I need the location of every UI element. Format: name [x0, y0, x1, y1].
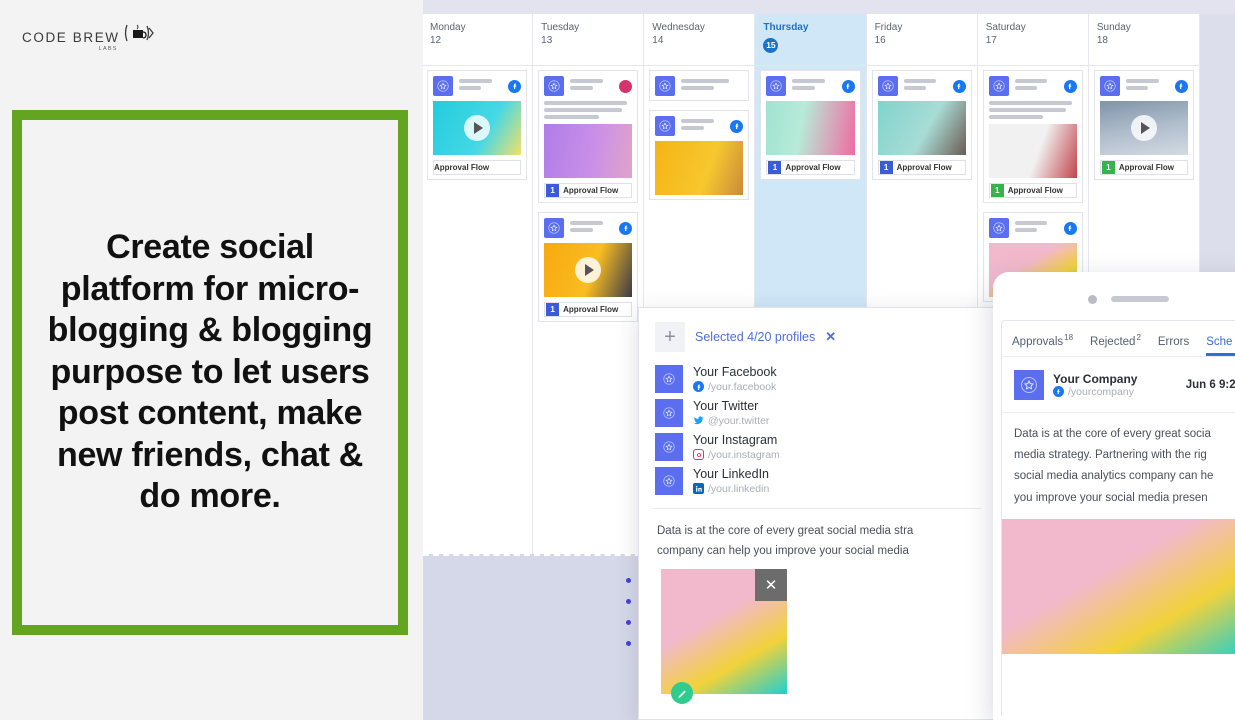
facebook-icon [508, 80, 521, 93]
remove-media-icon[interactable]: ✕ [755, 569, 787, 601]
calendar-post-card[interactable]: 1 Approval Flow [760, 70, 860, 180]
tab-label: Approvals [1012, 336, 1063, 348]
post-card-header [544, 218, 632, 238]
profile-list-item[interactable]: Your Facebook /your.facebook [639, 362, 995, 396]
post-card-header [878, 76, 966, 96]
speaker-bar [1111, 296, 1169, 302]
day-name: Friday [875, 20, 969, 35]
day-number: 16 [875, 35, 969, 46]
approval-flow-bar[interactable]: 1 Approval Flow [544, 302, 632, 317]
composer-textarea[interactable]: Data is at the core of every great socia… [639, 509, 995, 561]
day-name: Saturday [986, 20, 1080, 35]
calendar-day-column[interactable]: Tuesday13 1 Approval Flow 1 Approval Flo… [533, 14, 644, 564]
overlay-dot [626, 578, 631, 583]
approval-flow-bar[interactable]: 1 Approval Flow [544, 183, 632, 198]
tab-count: 18 [1064, 333, 1073, 342]
phone-tab-sche[interactable]: Sche [1206, 336, 1232, 356]
avatar [544, 218, 564, 238]
approval-flow-label: Approval Flow [897, 163, 952, 172]
post-title-placeholder [1015, 79, 1058, 93]
brand-logo: CODE BREW LABS [22, 22, 154, 44]
profile-handle: @your.twitter [708, 415, 769, 427]
facebook-icon [1053, 386, 1064, 397]
post-card-header [655, 116, 743, 136]
calendar-day-body[interactable]: 1 Approval Flow [867, 66, 977, 193]
brand-name-text: CODE BREW [22, 30, 120, 45]
approval-count-badge: 1 [880, 161, 893, 174]
plus-icon: + [664, 327, 676, 347]
pencil-icon[interactable] [671, 682, 693, 704]
camera-icon [1088, 295, 1097, 304]
facebook-icon [1064, 80, 1077, 93]
approval-flow-bar[interactable]: 1 Approval Flow [878, 160, 966, 175]
day-number: 12 [430, 35, 524, 46]
post-image [878, 101, 966, 155]
profile-handle-row: /your.instagram [693, 449, 780, 461]
post-card-header [655, 76, 743, 96]
calendar-day-body[interactable]: Approval Flow [423, 66, 532, 193]
avatar [655, 467, 683, 495]
post-title-placeholder [792, 79, 835, 93]
approval-count-badge: 1 [991, 184, 1004, 197]
calendar-day-body[interactable]: 1 Approval Flow [1089, 66, 1199, 193]
day-number: 18 [1097, 35, 1191, 46]
approval-flow-label: Approval Flow [434, 163, 489, 172]
left-panel: CODE BREW LABS Create social platform fo… [0, 0, 423, 720]
calendar-day-header: Monday12 [423, 14, 532, 66]
post-image [433, 101, 521, 155]
post-text-placeholder [989, 101, 1077, 119]
instagram-icon [693, 449, 704, 460]
post-composer-panel[interactable]: + Selected 4/20 profiles ✕ Your Facebook… [638, 307, 996, 720]
approval-flow-label: Approval Flow [563, 305, 618, 314]
post-title-placeholder [681, 79, 743, 93]
post-title-placeholder [681, 119, 724, 133]
approval-flow-bar[interactable]: 1 Approval Flow [766, 160, 854, 175]
overlay-dot-list [626, 578, 631, 662]
calendar-day-header: Tuesday13 [533, 14, 643, 66]
phone-post-header: Your Company /yourcompany Jun 6 9:25 [1002, 357, 1235, 413]
avatar [766, 76, 786, 96]
post-author: Your Company [1053, 372, 1137, 386]
profile-handle-row: /your.linkedin [693, 483, 769, 495]
profile-handle-row: /your.facebook [693, 381, 777, 393]
approval-flow-label: Approval Flow [1008, 186, 1063, 195]
linkedin-icon [693, 483, 704, 494]
phone-text-line: social media analytics company can he [1014, 466, 1235, 487]
facebook-icon [1175, 80, 1188, 93]
calendar-post-card[interactable]: 1 Approval Flow [983, 70, 1083, 203]
avatar [989, 218, 1009, 238]
headline-card: Create social platform for micro-bloggin… [12, 110, 408, 635]
phone-tab-approvals[interactable]: Approvals18 [1012, 333, 1073, 356]
phone-tab-errors[interactable]: Errors [1158, 336, 1189, 356]
phone-post-image [1002, 519, 1235, 654]
tab-label: Rejected [1090, 336, 1135, 348]
post-image [989, 124, 1077, 178]
day-number: 13 [541, 35, 635, 46]
play-icon[interactable] [575, 257, 601, 283]
facebook-icon [619, 222, 632, 235]
approval-flow-label: Approval Flow [1119, 163, 1174, 172]
calendar-post-card[interactable] [649, 110, 749, 200]
facebook-icon [1064, 222, 1077, 235]
approval-flow-bar[interactable]: Approval Flow [433, 160, 521, 175]
calendar-day-header: Friday16 [867, 14, 977, 66]
post-card-header [989, 218, 1077, 238]
post-title-placeholder [459, 79, 502, 93]
approval-flow-bar[interactable]: 1 Approval Flow [1100, 160, 1188, 175]
avatar [433, 76, 453, 96]
selected-profiles-label: Selected 4/20 profiles [695, 330, 815, 344]
post-image [1100, 101, 1188, 155]
post-image [655, 141, 743, 195]
facebook-icon [730, 120, 743, 133]
tab-count: 2 [1136, 333, 1140, 342]
calendar-post-card[interactable]: Approval Flow [427, 70, 527, 180]
instagram-icon [619, 80, 632, 93]
approval-count-badge: 1 [1102, 161, 1115, 174]
day-name: Tuesday [541, 20, 635, 35]
approval-count-badge: 1 [546, 303, 559, 316]
post-card-header [433, 76, 521, 96]
tab-label: Sche [1206, 336, 1232, 348]
composer-text-line: Data is at the core of every great socia… [657, 521, 977, 541]
phone-post-body: Data is at the core of every great socia… [1002, 413, 1235, 519]
approval-flow-label: Approval Flow [563, 186, 618, 195]
approval-count-badge: 1 [768, 161, 781, 174]
calendar-post-card[interactable]: 1 Approval Flow [1094, 70, 1194, 180]
day-name: Sunday [1097, 20, 1191, 35]
day-name: Wednesday [652, 20, 746, 35]
close-icon[interactable]: ✕ [825, 329, 836, 345]
post-image [544, 243, 632, 297]
avatar [1014, 370, 1044, 400]
post-card-header [544, 76, 632, 96]
profile-list-item[interactable]: Your LinkedIn /your.linkedin [639, 464, 995, 498]
tab-label: Errors [1158, 336, 1189, 348]
calendar-day-column[interactable]: Monday12 Approval Flow [423, 14, 533, 564]
profile-handle: /your.linkedin [708, 483, 769, 495]
calendar-post-card[interactable]: 1 Approval Flow [538, 212, 638, 322]
post-title-placeholder [570, 79, 613, 93]
day-number: 14 [652, 35, 746, 46]
calendar-day-body[interactable]: 1 Approval Flow [755, 66, 865, 193]
avatar [655, 399, 683, 427]
facebook-icon [842, 80, 855, 93]
facebook-icon [953, 80, 966, 93]
add-profile-button[interactable]: + [655, 322, 685, 352]
post-handle-row: /yourcompany [1053, 386, 1137, 398]
calendar-day-header: Saturday17 [978, 14, 1088, 66]
post-title-placeholder [570, 221, 613, 235]
post-title-placeholder [1015, 221, 1058, 235]
post-title-placeholder [904, 79, 947, 93]
post-title-placeholder [1126, 79, 1169, 93]
composer-text-line: company can help you improve your social… [657, 541, 977, 561]
phone-text-line: Data is at the core of every great socia [1014, 424, 1235, 445]
approval-flow-bar[interactable]: 1 Approval Flow [989, 183, 1077, 198]
profile-list-item[interactable]: Your Instagram /your.instagram [639, 430, 995, 464]
post-image [766, 101, 854, 155]
profile-list-item[interactable]: Your Twitter @your.twitter [639, 396, 995, 430]
post-card-header [989, 76, 1077, 96]
profile-handle: /your.instagram [708, 449, 780, 461]
calendar-day-body[interactable]: 1 Approval Flow 1 Approval Flow [533, 66, 643, 335]
avatar [989, 76, 1009, 96]
avatar [655, 365, 683, 393]
avatar [655, 76, 675, 96]
phone-tab-rejected[interactable]: Rejected2 [1090, 333, 1141, 356]
day-name: Monday [430, 20, 524, 35]
profile-name: Your LinkedIn [693, 467, 769, 483]
profile-name: Your Facebook [693, 365, 777, 381]
calendar-post-card[interactable]: 1 Approval Flow [872, 70, 972, 180]
overlay-dot [626, 620, 631, 625]
mobile-preview-mockup: Approvals18Rejected2ErrorsSche Your Comp… [993, 272, 1235, 720]
calendar-post-card[interactable]: 1 Approval Flow [538, 70, 638, 203]
avatar [544, 76, 564, 96]
twitter-icon [693, 415, 704, 426]
phone-tab-bar[interactable]: Approvals18Rejected2ErrorsSche [1002, 321, 1235, 357]
approval-count-badge: 1 [546, 184, 559, 197]
post-card-header [766, 76, 854, 96]
overlay-dot [626, 599, 631, 604]
avatar [878, 76, 898, 96]
post-timestamp: Jun 6 9:25 [1186, 379, 1235, 391]
lavender-overlay-panel [423, 554, 651, 720]
day-number: 17 [986, 35, 1080, 46]
profile-handle: /your.facebook [708, 381, 776, 393]
coffee-cup-brackets-icon [124, 22, 154, 44]
profile-handle-row: @your.twitter [693, 415, 769, 427]
profile-list[interactable]: Your Facebook /your.facebook Your Twitte… [639, 362, 995, 498]
approval-flow-label: Approval Flow [785, 163, 840, 172]
play-icon[interactable] [464, 115, 490, 141]
phone-text-line: you improve your social media presen [1014, 488, 1235, 509]
day-number-badge: 15 [763, 38, 778, 53]
post-card-header [1100, 76, 1188, 96]
brand-sub-text: LABS [99, 47, 118, 53]
phone-screen: Approvals18Rejected2ErrorsSche Your Comp… [1001, 320, 1235, 716]
calendar-post-card[interactable] [649, 70, 749, 101]
facebook-icon [693, 381, 704, 392]
post-handle: /yourcompany [1068, 386, 1134, 398]
composer-header: + Selected 4/20 profiles ✕ [639, 322, 995, 362]
calendar-day-header: Thursday15 [755, 14, 865, 66]
day-name: Thursday [763, 20, 857, 35]
avatar [655, 116, 675, 136]
calendar-day-header: Sunday18 [1089, 14, 1199, 66]
post-image [544, 124, 632, 178]
app-screenshot: Monday12 Approval FlowTuesday13 1 Approv… [423, 0, 1235, 720]
phone-notch [993, 272, 1235, 320]
overlay-dot [626, 641, 631, 646]
screen-top-edge [423, 0, 1235, 14]
phone-text-line: media strategy. Partnering with the rig [1014, 445, 1235, 466]
brand-name: CODE BREW LABS [22, 31, 120, 45]
avatar [1100, 76, 1120, 96]
play-icon[interactable] [1131, 115, 1157, 141]
profile-name: Your Twitter [693, 399, 769, 415]
post-text-placeholder [544, 101, 632, 119]
profile-name: Your Instagram [693, 433, 780, 449]
calendar-day-body[interactable] [644, 66, 754, 213]
avatar [655, 433, 683, 461]
composer-attached-image[interactable]: ✕ [661, 569, 787, 694]
calendar-day-header: Wednesday14 [644, 14, 754, 66]
page-headline: Create social platform for micro-bloggin… [42, 227, 378, 517]
